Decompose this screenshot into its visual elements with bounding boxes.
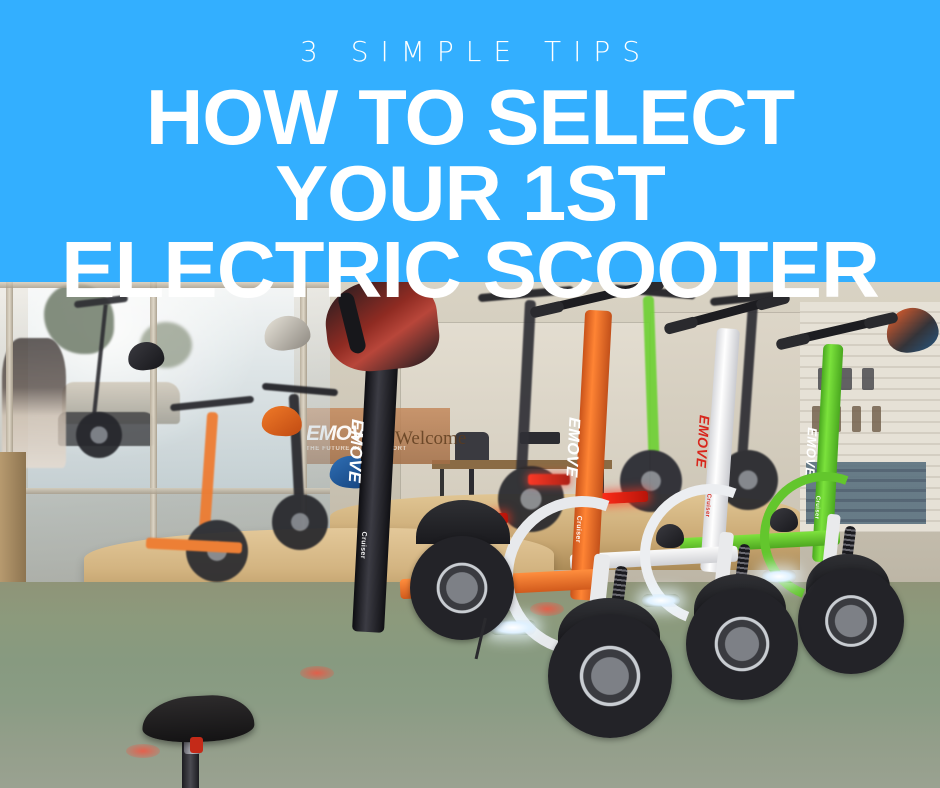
black-stem-model: Cruiser (359, 531, 367, 559)
headline-line-3: ELECTRIC SCOOTER (0, 232, 940, 308)
headline-line-2: YOUR 1ST (0, 156, 940, 230)
poster-canvas: EMOVE THE FUTURE OF TRANSPORT Welcome (0, 0, 940, 788)
orange-front-wheel (548, 614, 672, 738)
accessory-peg-icon (862, 368, 874, 390)
orange-rear-wheel (410, 536, 514, 640)
accessory-strap-icon (872, 406, 881, 432)
orange-stem-logo: EMOVE (561, 417, 582, 478)
green-front-wheel (798, 568, 904, 674)
showroom-photo: EMOVE THE FUTURE OF TRANSPORT Welcome (0, 282, 940, 788)
white-front-wheel (686, 588, 798, 700)
reflected-scooter-wheel (76, 412, 122, 458)
taillight-floor-glow (300, 666, 334, 680)
welcome-sign-text: Welcome (395, 428, 466, 450)
accessory-strap-icon (852, 406, 861, 432)
eyebrow-text: 3 SIMPLE TIPS (288, 38, 652, 66)
headline-line-1: HOW TO SELECT (0, 80, 940, 154)
black-seat-clamp (190, 737, 203, 753)
white-bell-cover (656, 524, 684, 548)
black-stem-logo: EMOVE (344, 419, 367, 484)
title-banner: 3 SIMPLE TIPS HOW TO SELECT YOUR 1ST ELE… (0, 0, 940, 282)
taillight-floor-glow (126, 744, 160, 758)
white-stem-logo: EMOVE (693, 415, 713, 469)
green-stem-logo: EMOVE (802, 427, 820, 477)
window-rail (0, 488, 330, 494)
